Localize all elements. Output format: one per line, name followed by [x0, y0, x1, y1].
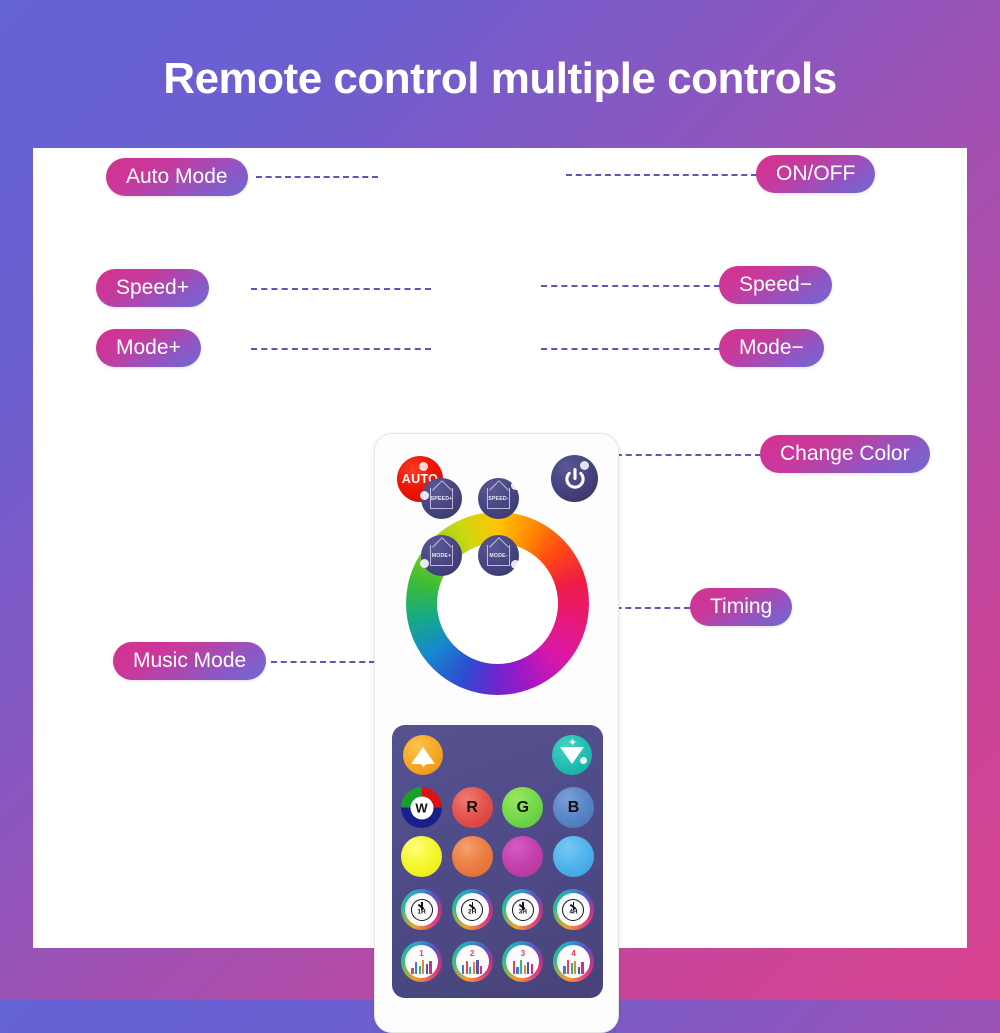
- color-button-blue-label: B: [568, 799, 580, 817]
- music-mode-button-1-label: 1: [419, 949, 423, 958]
- speed-plus-button[interactable]: SPEED+: [421, 478, 462, 519]
- callout-line-auto-mode: [256, 176, 378, 178]
- music-mode-button-2[interactable]: 2: [452, 941, 493, 982]
- timing-button-4h-label: 4H: [569, 909, 577, 916]
- mode-plus-dot: [420, 559, 429, 568]
- callout-music-mode[interactable]: Music Mode: [113, 642, 266, 680]
- mode-minus-dot: [511, 560, 520, 569]
- power-button[interactable]: [551, 455, 598, 502]
- color-button-red[interactable]: R: [452, 787, 493, 828]
- brightness-down-gloss: [580, 757, 587, 764]
- color-panel: ✦ ✦ W R G B: [392, 725, 603, 998]
- color-button-light-blue[interactable]: [553, 836, 594, 877]
- power-button-gloss: [580, 461, 589, 470]
- page-title: Remote control multiple controls: [0, 54, 1000, 104]
- callout-on-off[interactable]: ON/OFF: [756, 155, 875, 193]
- color-button-yellow[interactable]: [401, 836, 442, 877]
- speed-plus-dot: [420, 491, 429, 500]
- color-button-orange[interactable]: [452, 836, 493, 877]
- music-mode-button-2-label: 2: [470, 949, 474, 958]
- callout-mode-plus[interactable]: Mode+: [96, 329, 201, 367]
- timing-button-1h[interactable]: 1H: [401, 889, 442, 930]
- callout-on-off-label: ON/OFF: [776, 162, 855, 186]
- callout-mode-minus-label: Mode−: [739, 336, 804, 360]
- callout-music-mode-label: Music Mode: [133, 649, 246, 673]
- callout-line-speed-plus: [251, 288, 431, 290]
- music-mode-button-3[interactable]: 3: [502, 941, 543, 982]
- callout-auto-mode[interactable]: Auto Mode: [106, 158, 248, 196]
- color-button-white-label: W: [410, 796, 433, 819]
- auto-button-gloss: [419, 462, 428, 471]
- callout-line-music-mode: [271, 661, 375, 663]
- color-button-blue[interactable]: B: [553, 787, 594, 828]
- mode-minus-label: MODE-: [489, 553, 507, 559]
- callout-auto-mode-label: Auto Mode: [126, 165, 228, 189]
- callout-line-mode-minus: [541, 348, 720, 350]
- callout-change-color-label: Change Color: [780, 442, 910, 466]
- timing-button-3h[interactable]: 3H: [502, 889, 543, 930]
- music-mode-button-3-label: 3: [521, 949, 525, 958]
- color-button-row-1: W R G B: [401, 787, 594, 828]
- callout-change-color[interactable]: Change Color: [760, 435, 930, 473]
- callout-line-change-color: [596, 454, 761, 456]
- brightness-down-button[interactable]: ✦: [552, 735, 592, 775]
- mode-plus-label: MODE+: [432, 553, 452, 559]
- brightness-up-button[interactable]: ✦: [403, 735, 443, 775]
- color-button-white[interactable]: W: [401, 787, 442, 828]
- music-mode-button-1[interactable]: 1: [401, 941, 442, 982]
- timing-button-3h-label: 3H: [519, 909, 527, 916]
- callout-timing-label: Timing: [710, 595, 772, 619]
- equalizer-icon: [462, 957, 482, 974]
- speed-minus-button[interactable]: SPEED-: [478, 478, 519, 519]
- color-button-row-2: [401, 836, 594, 877]
- callout-line-mode-plus: [251, 348, 431, 350]
- speed-plus-label: SPEED+: [431, 496, 453, 502]
- brightness-up-spark-icon: ✦: [419, 760, 428, 771]
- equalizer-icon: [513, 957, 533, 974]
- equalizer-icon: [411, 957, 431, 974]
- music-mode-row: 1 2 3: [401, 941, 594, 982]
- content-card: Auto Mode Speed+ Mode+ Music Mode ON/OFF…: [33, 148, 967, 948]
- timing-button-2h[interactable]: 2H: [452, 889, 493, 930]
- timing-button-4h[interactable]: 4H: [553, 889, 594, 930]
- callout-speed-plus-label: Speed+: [116, 276, 189, 300]
- color-button-green-label: G: [517, 799, 529, 817]
- brightness-down-spark-icon: ✦: [568, 738, 577, 749]
- music-mode-button-4[interactable]: 4: [553, 941, 594, 982]
- mode-minus-button[interactable]: MODE-: [478, 535, 519, 576]
- music-mode-button-4-label: 4: [571, 949, 575, 958]
- callout-mode-minus[interactable]: Mode−: [719, 329, 824, 367]
- callout-speed-minus-label: Speed−: [739, 273, 812, 297]
- speed-minus-dot: [511, 481, 520, 490]
- color-button-magenta[interactable]: [502, 836, 543, 877]
- callout-speed-minus[interactable]: Speed−: [719, 266, 832, 304]
- timing-row: 1H 2H 3H 4H: [401, 889, 594, 930]
- color-button-green[interactable]: G: [502, 787, 543, 828]
- color-button-red-label: R: [466, 799, 478, 817]
- callout-line-speed-minus: [541, 285, 720, 287]
- callout-mode-plus-label: Mode+: [116, 336, 181, 360]
- callout-speed-plus[interactable]: Speed+: [96, 269, 209, 307]
- remote-control-body: AUTO SPEED+ SPEED-: [374, 433, 619, 1033]
- timing-button-1h-label: 1H: [417, 909, 425, 916]
- timing-button-2h-label: 2H: [468, 909, 476, 916]
- callout-line-on-off: [566, 174, 757, 176]
- equalizer-icon: [563, 957, 583, 974]
- callout-timing[interactable]: Timing: [690, 588, 792, 626]
- speed-minus-label: SPEED-: [488, 496, 509, 502]
- mode-plus-button[interactable]: MODE+: [421, 535, 462, 576]
